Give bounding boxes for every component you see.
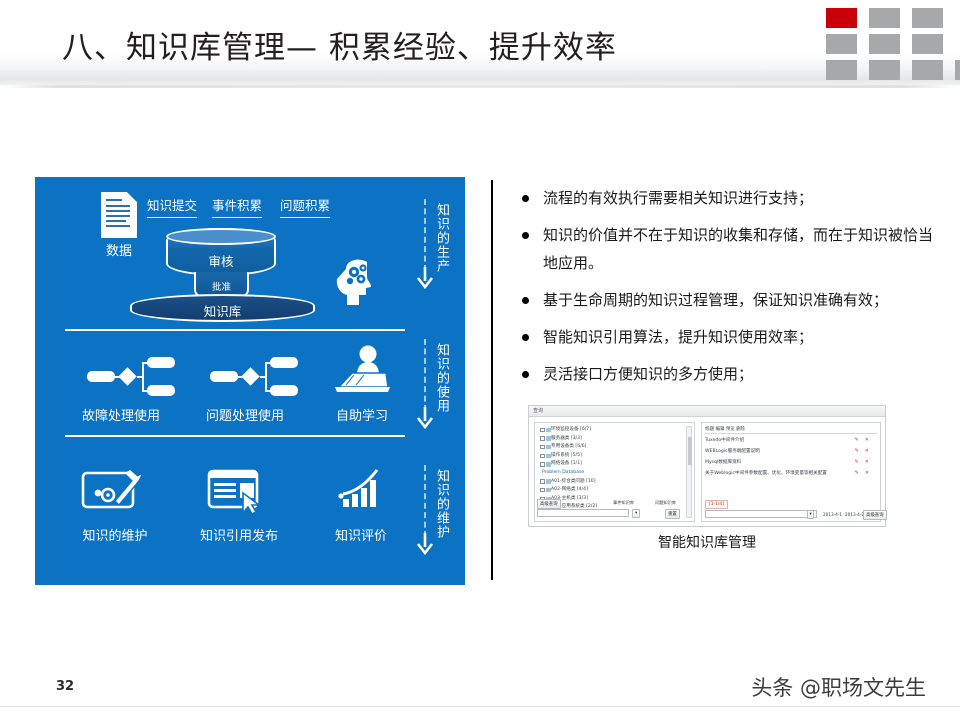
advanced-query-button[interactable]: 高级查询 xyxy=(537,499,561,509)
deco-square-7 xyxy=(826,60,857,80)
maintenance-icon xyxy=(81,467,143,513)
tree-item: A01-综合类问题 [10] xyxy=(538,478,684,487)
deco-square-10 xyxy=(955,60,960,80)
row-actions[interactable]: ✎✕ xyxy=(855,458,875,467)
list-item: 流程的有效执行需要相关知识进行支持； xyxy=(516,184,936,212)
list-item: 知识的价值并不在于知识的收集和存储，而在于知识被恰当地应用。 xyxy=(516,221,936,277)
deco-square-3 xyxy=(912,8,943,28)
watermark: 头条 @职场文先生 xyxy=(751,672,926,702)
tree-reset-button[interactable]: 重置 xyxy=(665,509,680,519)
tree-item: 环境监控设备 [6/7] xyxy=(538,426,684,435)
section-divider-2 xyxy=(65,435,405,437)
tree-scope-select[interactable]: ▾ xyxy=(632,509,640,518)
stage-arrow-maintenance-label: 知识的维护 xyxy=(432,469,451,539)
deco-square-6 xyxy=(912,34,943,54)
screenshot-titlebar: 查询 xyxy=(529,406,885,417)
label-issue-handling: 问题处理使用 xyxy=(183,405,307,424)
deco-square-1 xyxy=(826,8,857,28)
deco-square-8 xyxy=(869,60,900,80)
header-decoration-grid xyxy=(826,8,956,80)
label-knowledge-publish: 知识引用发布 xyxy=(175,525,303,544)
table-row: WEBLogic服务端配置说明✎✕ xyxy=(705,447,877,456)
page-title: 八、知识库管理— 积累经验、提升效率 xyxy=(62,22,617,67)
screenshot-window-title: 查询 xyxy=(533,407,543,414)
screenshot-results-panel: 标题 编辑 预览 删除 Tuxedo中间件介绍✎✕ WEBLogic服务端配置说… xyxy=(701,422,881,522)
tree-item: 网络设备 [1/1] xyxy=(538,460,684,469)
label-knowledge-maintenance: 知识的维护 xyxy=(59,525,171,544)
list-item: 灵活接口方便知识的多方使用； xyxy=(516,360,936,388)
cylinder-knowledge-base: 知识库 xyxy=(130,294,315,322)
tree-item: 操作系统 [5/5] xyxy=(538,452,684,461)
tree-group-header: Problem Database xyxy=(538,469,684,478)
table-row: Tuxedo中间件介绍✎✕ xyxy=(705,436,877,445)
screenshot-tree-panel: 环境监控设备 [6/7] 服务器类 [3/3] 专用设备类 [6/6] 操作系统… xyxy=(534,422,695,522)
cylinder-audit-label: 审核 xyxy=(168,251,274,270)
row-actions[interactable]: ✎✕ xyxy=(855,436,875,445)
results-panel-footer: [1-1/4] ▾ 2013-4-1 2013-4-26 高级查询 xyxy=(705,500,877,518)
brain-gears-icon xyxy=(326,255,386,317)
flow-icon-issue-handling xyxy=(210,355,302,397)
flow-icon-fault-handling xyxy=(87,355,179,397)
search-button[interactable]: 高级查询 xyxy=(863,510,887,520)
tree-search-input[interactable] xyxy=(537,509,629,517)
section-divider-1 xyxy=(65,329,405,331)
page-number: 32 xyxy=(56,679,74,694)
label-knowledge-evaluation: 知识评价 xyxy=(307,525,415,544)
tree-panel-footer: 高级查询 事件知识库 问题知识库 ▾ 重置 xyxy=(537,499,692,519)
screenshot-caption: 智能知识库管理 xyxy=(528,532,886,552)
tag-knowledge-submit: 知识提交 xyxy=(147,195,197,218)
content-divider xyxy=(491,180,493,580)
cylinder-kb-label: 知识库 xyxy=(132,301,313,320)
tree-item: A02-网络类 [4/4] xyxy=(538,486,684,495)
slide-root: 八、知识库管理— 积累经验、提升效率 知识提交 事件积累 问题积累 xyxy=(0,0,960,720)
label-fault-handling: 故障处理使用 xyxy=(59,405,183,424)
row-actions[interactable]: ✎✕ xyxy=(855,469,875,478)
date-from[interactable]: 2013-4-1 xyxy=(823,512,842,517)
bullet-list: 流程的有效执行需要相关知识进行支持； 知识的价值并不在于知识的收集和存储，而在于… xyxy=(516,184,936,397)
table-row: 关于Weblogic中间件参数配置、优化、环境变量等相关配置✎✕ xyxy=(705,469,877,478)
evaluation-chart-icon xyxy=(337,467,399,513)
header-underline xyxy=(0,85,960,88)
keyword-dropdown-icon[interactable]: ▾ xyxy=(807,510,814,519)
deco-square-4 xyxy=(826,34,857,54)
publish-icon xyxy=(207,467,269,513)
label-data: 数据 xyxy=(91,240,147,259)
deco-square-5 xyxy=(869,34,900,54)
keyword-search-input[interactable] xyxy=(705,510,817,518)
stage-arrow-production-label: 知识的生产 xyxy=(432,203,451,273)
tag-event-accumulate: 事件积累 xyxy=(212,195,262,218)
slide-header: 八、知识库管理— 积累经验、提升效率 xyxy=(0,0,960,88)
row-actions[interactable]: ✎✕ xyxy=(855,447,875,456)
cylinder-approve-label: 批准 xyxy=(196,279,247,293)
label-self-learning: 自助学习 xyxy=(307,405,417,424)
tree-item: 专用设备类 [6/6] xyxy=(538,443,684,452)
radio-event-kb[interactable]: 事件知识库 xyxy=(613,500,634,506)
knowledge-lifecycle-diagram: 知识提交 事件积累 问题积累 数据 审核 批准 知识库 xyxy=(35,177,465,585)
list-item: 智能知识引用算法，提升知识使用效率； xyxy=(516,323,936,351)
radio-problem-kb[interactable]: 问题知识库 xyxy=(655,500,676,506)
cylinder-audit: 审核 xyxy=(166,228,276,276)
tag-issue-accumulate: 问题积累 xyxy=(280,195,330,218)
document-icon xyxy=(101,192,137,238)
deco-square-2 xyxy=(869,8,900,28)
deco-square-9 xyxy=(912,60,943,80)
results-grid-header: 标题 编辑 预览 删除 xyxy=(705,426,877,434)
footer-divider xyxy=(0,706,960,707)
list-item: 基于生命周期的知识过程管理，保证知识准确有效； xyxy=(516,286,936,314)
table-row: Mysql数据库资料✎✕ xyxy=(705,458,877,467)
pager-badge: [1-1/4] xyxy=(705,500,728,509)
self-learning-icon xyxy=(330,345,392,393)
stage-arrow-usage-label: 知识的使用 xyxy=(432,343,451,413)
knowledge-base-screenshot: 查询 环境监控设备 [6/7] 服务器类 [3/3] 专用设备类 [6/6] 操… xyxy=(528,405,886,527)
tree-item: 服务器类 [3/3] xyxy=(538,435,684,444)
